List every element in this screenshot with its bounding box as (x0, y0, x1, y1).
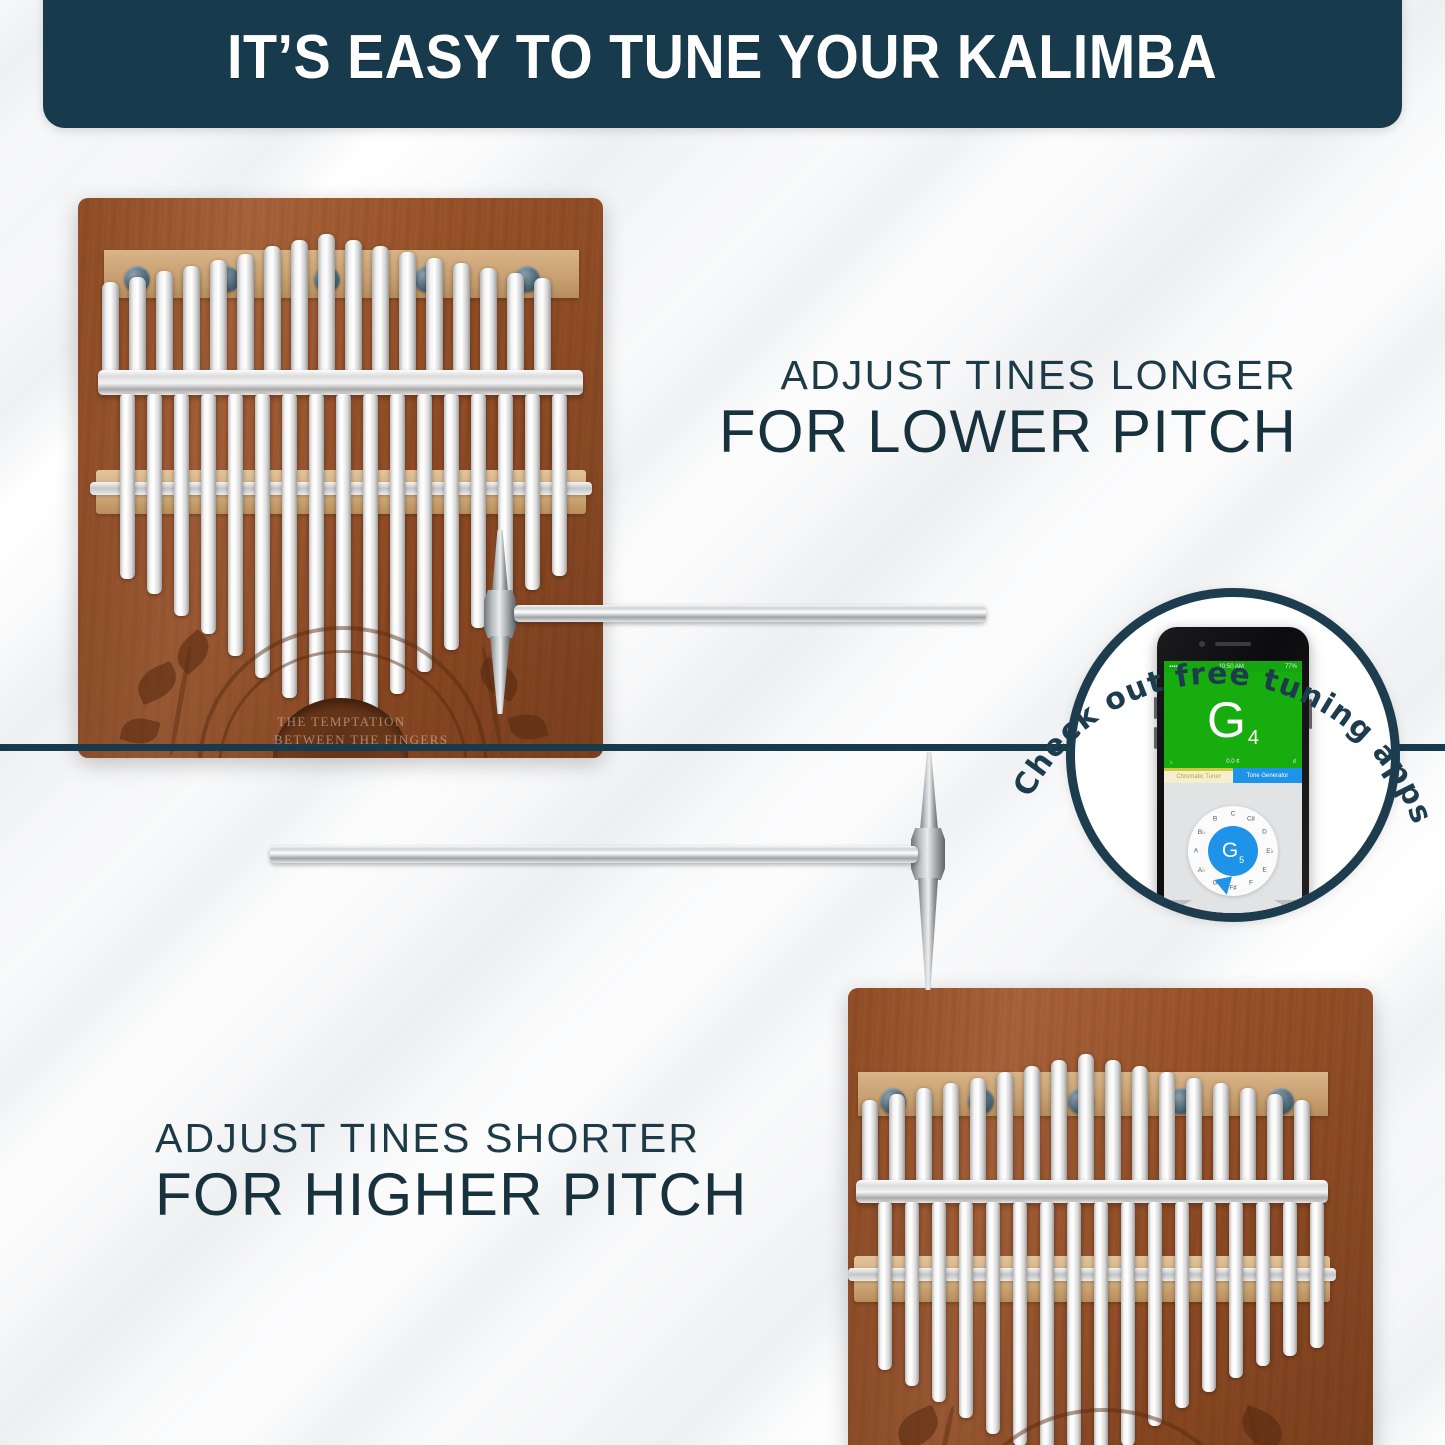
kalimba-tine (1202, 1202, 1216, 1392)
kalimba-tine (1148, 1202, 1162, 1426)
kalimba-tine-upper (426, 258, 443, 374)
hammer-tip-lower (918, 878, 938, 990)
kalimba-engraving-arc (958, 1408, 1248, 1445)
kalimba-tine-upper (480, 268, 497, 374)
silent-switch[interactable] (1154, 675, 1157, 687)
kalimba-tine (174, 394, 189, 616)
status-bar: ▪▪▪▪ 10:50 AM 77% (1164, 661, 1302, 672)
kalimba-tine-upper (943, 1083, 959, 1186)
kalimba-tine-upper (102, 282, 119, 374)
kalimba-tine-upper (862, 1100, 878, 1186)
status-carrier: ▪▪▪▪ (1169, 664, 1178, 670)
kalimba-tine-upper (1105, 1060, 1121, 1186)
dial-arrow-left-icon (1170, 900, 1192, 913)
cents-sharp-marker: ♯ (1293, 759, 1296, 766)
kalimba-tine-upper (129, 277, 146, 374)
callout-higher-line-2: FOR HIGHER PITCH (155, 1163, 748, 1227)
app-tab-bar: Chromatic Tuner Tone Generator (1164, 768, 1302, 783)
dial-arrow-right-icon (1274, 900, 1296, 913)
note-dial[interactable]: C C♯ D E♭ E F F♯ G A♭ A B♭ B (1188, 806, 1278, 896)
hammer-head (484, 590, 516, 638)
header-banner: IT’S EASY TO TUNE YOUR KALIMBA (43, 0, 1402, 128)
phone-screen: ▪▪▪▪ 10:50 AM 77% G 4 ♭ 0.0 ¢ ♯ Chro (1164, 661, 1302, 919)
kalimba-tine-upper (1132, 1066, 1148, 1186)
kalimba-tine-upper (1078, 1054, 1094, 1186)
hammer-tip-lower (490, 636, 510, 714)
tuner-readout-panel: G 4 ♭ 0.0 ¢ ♯ (1164, 672, 1302, 768)
kalimba-tine (201, 394, 216, 634)
kalimba-tine-upper (534, 278, 551, 374)
cents-value: 0.0 ¢ (1226, 759, 1239, 766)
kalimba-tine (255, 394, 270, 678)
dial-tick-label: B (1213, 815, 1217, 822)
dial-tick-label: A (1194, 848, 1198, 855)
kalimba-engraving-leaf (170, 629, 217, 675)
kalimba-tine-upper (264, 246, 281, 374)
front-camera-icon (1199, 641, 1205, 647)
kalimba-tine-upper (1267, 1094, 1283, 1186)
kalimba-engraving-leaf (132, 661, 183, 705)
dial-tick-label: E♭ (1266, 847, 1273, 855)
kalimba-tine-upper (345, 240, 362, 374)
tuning-hammer-bottom (270, 752, 970, 1002)
hammer-tip-upper (492, 530, 508, 592)
hammer-tip-upper (920, 752, 938, 830)
kalimba-tine (905, 1202, 919, 1386)
volume-down-button[interactable] (1154, 727, 1157, 749)
kalimba-tine (1283, 1202, 1297, 1356)
kalimba-tine-upper (453, 263, 470, 374)
tuning-app-inset: ▪▪▪▪ 10:50 AM 77% G 4 ♭ 0.0 ¢ ♯ Chro (1066, 588, 1400, 922)
earpiece-speaker (1215, 642, 1251, 646)
kalimba-tine (1013, 1202, 1027, 1445)
kalimba-tine-upper (1159, 1072, 1175, 1186)
cents-flat-marker: ♭ (1170, 759, 1173, 766)
callout-lower-line-1: ADJUST TINES LONGER (719, 355, 1297, 396)
tuner-cents-row: ♭ 0.0 ¢ ♯ (1164, 759, 1302, 766)
kalimba-tine (147, 394, 162, 594)
dial-note-octave: 5 (1239, 855, 1244, 865)
kalimba-tine-upper (889, 1094, 905, 1186)
kalimba-tine (1067, 1202, 1081, 1445)
tab-tone-generator[interactable]: Tone Generator (1233, 768, 1302, 783)
kalimba-tine (932, 1202, 946, 1402)
kalimba-tine-upper (916, 1088, 932, 1186)
kalimba-tine-upper (399, 252, 416, 374)
kalimba-engrave-line-1: THE TEMPTATION (274, 714, 409, 730)
page-title: IT’S EASY TO TUNE YOUR KALIMBA (227, 22, 1217, 93)
status-battery: 77% (1285, 664, 1297, 670)
dial-tick-label: F (1249, 880, 1253, 887)
callout-higher-pitch: ADJUST TINES SHORTER FOR HIGHER PITCH (155, 1118, 748, 1227)
callout-lower-pitch: ADJUST TINES LONGER FOR LOWER PITCH (719, 355, 1297, 464)
kalimba-tine-upper (1186, 1078, 1202, 1186)
kalimba-tine-upper (1213, 1083, 1229, 1186)
kalimba-engraving-stem (938, 1406, 955, 1445)
power-button[interactable] (1309, 699, 1312, 729)
kalimba-engraving-leaf (119, 714, 160, 748)
kalimba-tine-upper (183, 266, 200, 374)
kalimba-tine-upper (970, 1078, 986, 1186)
kalimba-tine-upper (997, 1072, 1013, 1186)
kalimba-pressure-bar (98, 370, 583, 395)
kalimba-tine (959, 1202, 973, 1418)
kalimba-tine-upper (1051, 1060, 1067, 1186)
dial-tick-label: E (1262, 866, 1266, 873)
note-dial-area: C C♯ D E♭ E F F♯ G A♭ A B♭ B (1164, 783, 1302, 919)
kalimba-tine (417, 394, 432, 672)
smartphone: ▪▪▪▪ 10:50 AM 77% G 4 ♭ 0.0 ¢ ♯ Chro (1157, 627, 1309, 922)
kalimba-shorter-tines (848, 988, 1373, 1445)
dial-tick-label: A♭ (1198, 866, 1205, 874)
dial-current-note: G 5 (1208, 826, 1258, 876)
kalimba-tine (1040, 1202, 1054, 1445)
tuner-note: G (1207, 695, 1246, 745)
kalimba-tine-upper (1240, 1088, 1256, 1186)
tab-chromatic-tuner[interactable]: Chromatic Tuner (1164, 768, 1233, 783)
dial-note-letter: G (1222, 839, 1238, 863)
dial-tick-label: D (1262, 829, 1267, 836)
dial-indicator-wedge (1214, 876, 1235, 896)
hammer-shaft (514, 605, 986, 622)
kalimba-tine (1310, 1202, 1324, 1348)
kalimba-pressure-bar (856, 1180, 1328, 1203)
status-clock: 10:50 AM (1219, 664, 1244, 670)
kalimba-tine-upper (156, 271, 173, 374)
kalimba-tine (228, 394, 243, 656)
kalimba-tine-upper (210, 260, 227, 374)
kalimba-tine (1256, 1202, 1270, 1366)
kalimba-tine (1175, 1202, 1189, 1408)
kalimba-tine (120, 394, 135, 579)
kalimba-engraving-leaf (1235, 1404, 1288, 1445)
kalimba-tine (1229, 1202, 1243, 1378)
hammer-shaft (270, 846, 918, 863)
tuner-octave: 4 (1248, 727, 1259, 750)
kalimba-tine-upper (507, 273, 524, 374)
kalimba-tine-upper (372, 246, 389, 374)
kalimba-engraving-leaf (891, 1404, 944, 1445)
dial-tick-label: C♯ (1247, 815, 1255, 822)
kalimba-tine-upper (291, 240, 308, 374)
callout-higher-line-1: ADJUST TINES SHORTER (155, 1118, 748, 1159)
kalimba-tine-upper (237, 254, 254, 374)
kalimba-tine (986, 1202, 1000, 1434)
callout-lower-line-2: FOR LOWER PITCH (719, 400, 1297, 464)
kalimba-tine (878, 1202, 892, 1370)
kalimba-tine-upper (1294, 1100, 1310, 1186)
tuning-hammer-top (470, 530, 990, 720)
dial-tick-label: B♭ (1198, 828, 1205, 836)
kalimba-tine (444, 394, 459, 650)
kalimba-tine-upper (318, 234, 335, 374)
dial-tick-label: C (1231, 811, 1236, 818)
kalimba-tine-upper (1024, 1066, 1040, 1186)
infographic-canvas: IT’S EASY TO TUNE YOUR KALIMBA (0, 0, 1445, 1445)
volume-up-button[interactable] (1154, 697, 1157, 719)
